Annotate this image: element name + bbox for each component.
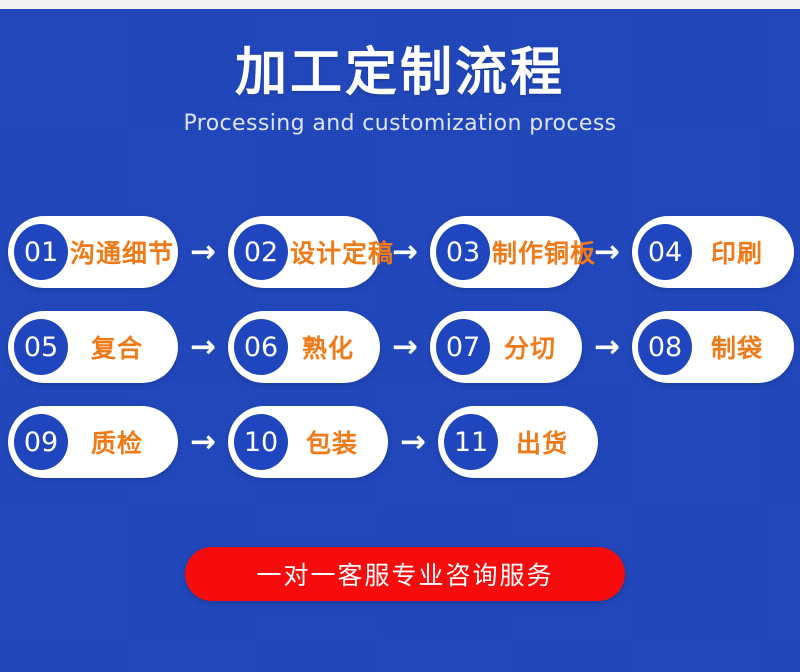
step-label: 设计定稿 bbox=[288, 234, 394, 270]
step-label: 沟通细节 bbox=[68, 234, 174, 270]
flow-step-06[interactable]: 06 熟化 bbox=[228, 311, 380, 383]
flow-step-02[interactable]: 02 设计定稿 bbox=[228, 216, 380, 288]
processing-flow-poster: 加工定制流程 Processing and customization proc… bbox=[0, 0, 800, 672]
flow-steps-container: 01 沟通细节 → 02 设计定稿 → 03 制作铜板 → 04 印刷 05 bbox=[8, 214, 798, 499]
step-number-badge: 07 bbox=[436, 319, 490, 375]
flow-row-1: 01 沟通细节 → 02 设计定稿 → 03 制作铜板 → 04 印刷 bbox=[8, 214, 798, 290]
top-white-strip bbox=[0, 0, 800, 9]
flow-step-08[interactable]: 08 制袋 bbox=[632, 311, 794, 383]
step-label: 印刷 bbox=[692, 234, 780, 270]
flow-step-01[interactable]: 01 沟通细节 bbox=[8, 216, 178, 288]
step-number-badge: 05 bbox=[14, 319, 68, 375]
step-label: 分切 bbox=[490, 329, 568, 365]
flow-step-11[interactable]: 11 出货 bbox=[438, 406, 598, 478]
step-number-badge: 04 bbox=[638, 224, 692, 280]
flow-row-2: 05 复合 → 06 熟化 → 07 分切 → 08 制袋 bbox=[8, 309, 798, 385]
arrow-right-icon: → bbox=[178, 427, 228, 458]
page-subtitle: Processing and customization process bbox=[0, 110, 800, 138]
step-label: 包装 bbox=[288, 424, 374, 460]
poster-header: 加工定制流程 Processing and customization proc… bbox=[0, 42, 800, 138]
step-label: 质检 bbox=[68, 424, 164, 460]
arrow-right-icon: → bbox=[582, 332, 632, 363]
step-label: 熟化 bbox=[288, 329, 366, 365]
step-number-badge: 11 bbox=[444, 414, 498, 470]
flow-step-07[interactable]: 07 分切 bbox=[430, 311, 582, 383]
contact-service-label: 一对一客服专业咨询服务 bbox=[256, 556, 553, 592]
flow-row-3: 09 质检 → 10 包装 → 11 出货 bbox=[8, 404, 798, 480]
flow-step-10[interactable]: 10 包装 bbox=[228, 406, 388, 478]
step-number-badge: 02 bbox=[234, 224, 288, 280]
step-number-badge: 09 bbox=[14, 414, 68, 470]
step-number-badge: 06 bbox=[234, 319, 288, 375]
arrow-right-icon: → bbox=[178, 332, 228, 363]
step-label: 制袋 bbox=[692, 329, 780, 365]
step-number-badge: 10 bbox=[234, 414, 288, 470]
step-label: 制作铜板 bbox=[490, 234, 596, 270]
flow-step-04[interactable]: 04 印刷 bbox=[632, 216, 794, 288]
page-title: 加工定制流程 bbox=[0, 42, 800, 104]
step-label: 出货 bbox=[498, 424, 584, 460]
step-number-badge: 03 bbox=[436, 224, 490, 280]
flow-step-05[interactable]: 05 复合 bbox=[8, 311, 178, 383]
step-label: 复合 bbox=[68, 329, 164, 365]
arrow-right-icon: → bbox=[178, 237, 228, 268]
step-number-badge: 01 bbox=[14, 224, 68, 280]
arrow-right-icon: → bbox=[388, 427, 438, 458]
flow-step-03[interactable]: 03 制作铜板 bbox=[430, 216, 582, 288]
flow-step-09[interactable]: 09 质检 bbox=[8, 406, 178, 478]
contact-service-button[interactable]: 一对一客服专业咨询服务 bbox=[185, 547, 625, 601]
step-number-badge: 08 bbox=[638, 319, 692, 375]
arrow-right-icon: → bbox=[380, 332, 430, 363]
